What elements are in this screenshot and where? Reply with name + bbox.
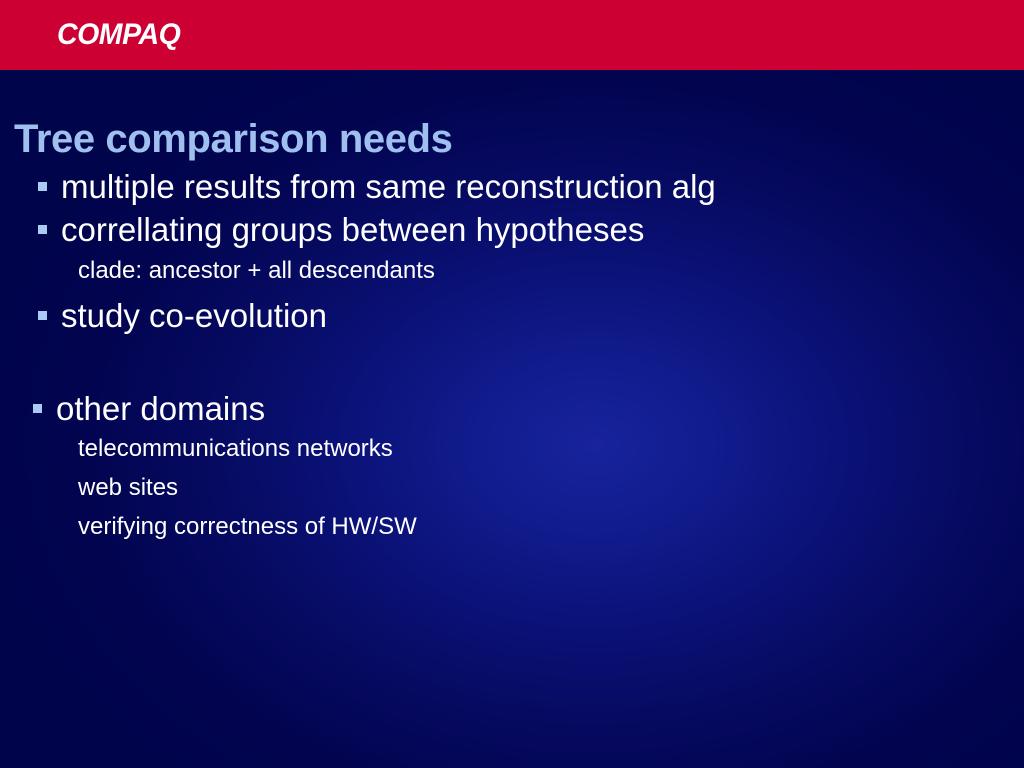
sub-bullet-item: web sites [0,469,1024,508]
bullet-label: study co-evolution [61,295,327,338]
bullet-label: multiple results from same reconstructio… [61,166,716,209]
presentation-slide: COMPAQ Tree comparison needs multiple re… [0,0,1024,768]
bullet-item: correllating groups between hypotheses [0,209,1024,252]
square-bullet-icon [38,225,47,234]
sub-bullet-item: verifying correctness of HW/SW [0,508,1024,547]
bullet-label: correllating groups between hypotheses [61,209,644,252]
bullet-item: multiple results from same reconstructio… [0,166,1024,209]
brand-header-band: COMPAQ [0,0,1024,70]
slide-body: multiple results from same reconstructio… [0,166,1024,547]
layout-spacer [0,338,1024,388]
sub-bullet-item: telecommunications networks [0,430,1024,469]
square-bullet-icon [38,311,47,320]
square-bullet-icon [33,404,42,413]
bullet-item: study co-evolution [0,295,1024,338]
compaq-logo: COMPAQ [57,20,180,50]
square-bullet-icon [38,182,47,191]
bullet-item: other domains [0,388,1024,431]
sub-bullet-item: clade: ancestor + all descendants [0,252,1024,291]
bullet-label: other domains [56,388,265,431]
page-title: Tree comparison needs [14,117,452,161]
